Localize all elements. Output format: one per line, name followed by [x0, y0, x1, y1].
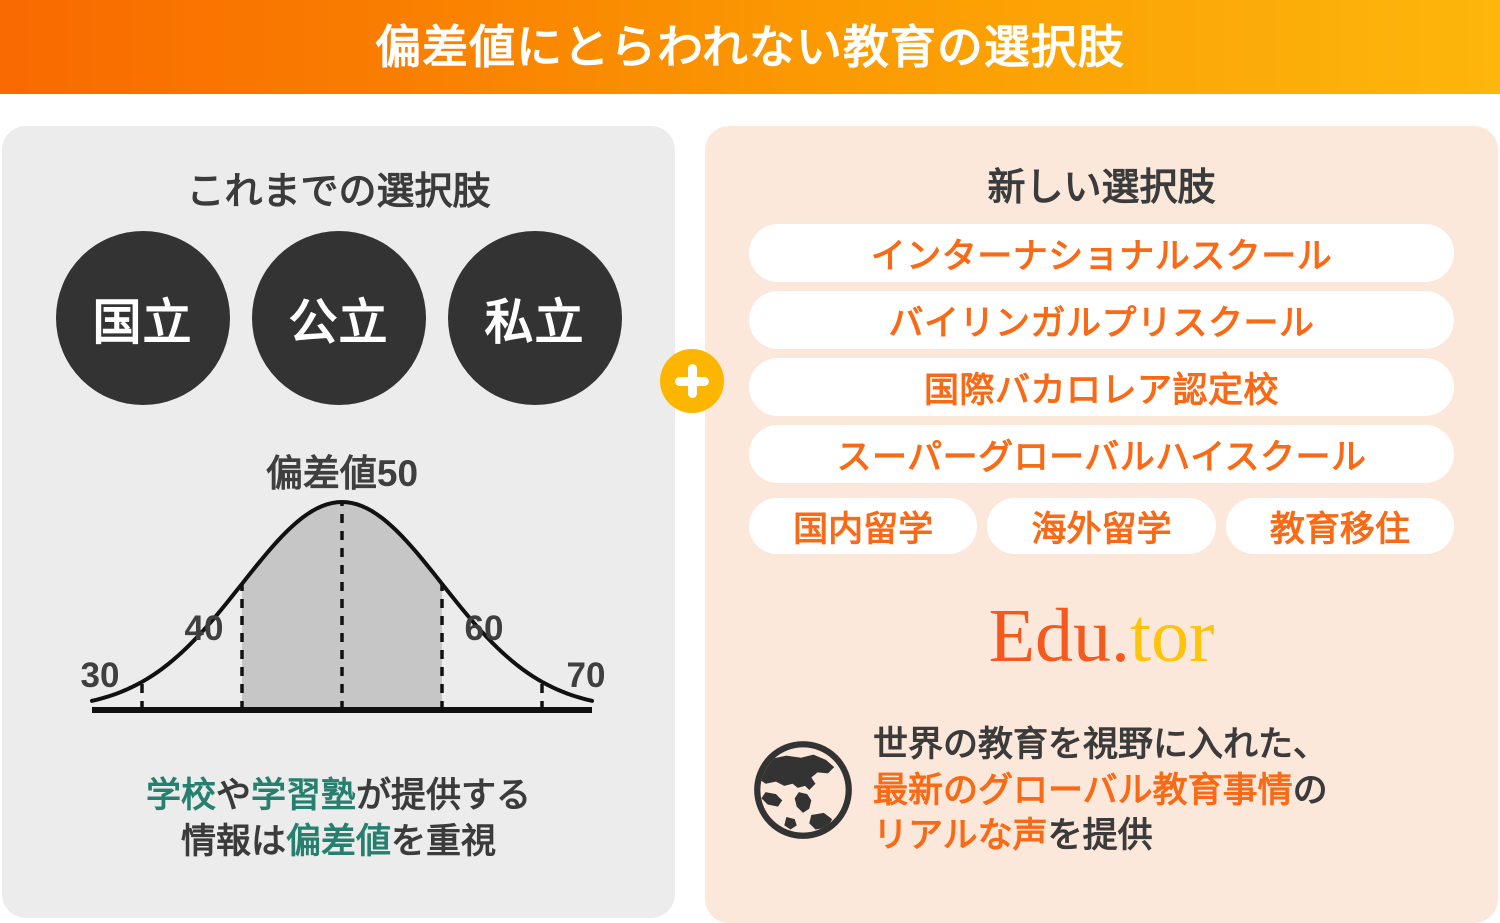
- caption-text-info: 情報は: [181, 822, 286, 861]
- tagline-line-3-tail: を提供: [1048, 816, 1153, 855]
- plus-icon: [660, 349, 724, 413]
- tagline-highlight-global-education: 最新のグローバル教育事情: [873, 771, 1293, 810]
- bell-curve-tick-label-70: 70: [567, 656, 606, 695]
- brand-logo-secondary: tor: [1130, 594, 1214, 678]
- pill-overseas-study[interactable]: 海外留学: [987, 498, 1215, 554]
- caption-text-emphasis: を重視: [391, 822, 496, 861]
- circle-public: 公立: [252, 231, 426, 405]
- circle-public-label: 公立: [288, 283, 388, 354]
- tagline-highlight-real-voices: リアルな声: [873, 816, 1048, 855]
- brand-logo-primary: Edu.: [989, 594, 1130, 678]
- plus-icon-vertical-bar: [688, 364, 697, 398]
- bell-curve-svg: 偏差値50 30 40 60 70: [52, 444, 632, 744]
- circle-national: 国立: [56, 231, 230, 405]
- deviation-score-bell-curve: 偏差値50 30 40 60 70: [52, 444, 632, 744]
- new-option-pill-list: インターナショナルスクール バイリンガルプリスクール 国際バカロレア認定校 スー…: [749, 224, 1454, 483]
- left-panel-caption: 学校や学習塾が提供する 情報は偏差値を重視: [2, 773, 675, 865]
- left-panel-title: これまでの選択肢: [2, 160, 675, 215]
- tagline-line-3: リアルな声を提供: [873, 813, 1328, 859]
- school-type-circle-group: 国立 公立 私立: [2, 231, 675, 405]
- right-panel-new-options: 新しい選択肢 インターナショナルスクール バイリンガルプリスクール 国際バカロレ…: [705, 126, 1498, 923]
- tagline-line-2: 最新のグローバル教育事情の: [873, 768, 1328, 814]
- caption-highlight-school: 学校: [146, 776, 216, 815]
- circle-private-label: 私立: [484, 283, 584, 354]
- pill-overseas-study-label: 海外留学: [1031, 501, 1171, 552]
- pill-international-school-label: インターナショナルスクール: [871, 228, 1333, 279]
- left-panel-existing-options: これまでの選択肢 国立 公立 私立 偏差値50 30 40 60 70: [2, 126, 675, 918]
- caption-text-ya: や: [216, 776, 251, 815]
- brand-logo: Edu.tor: [705, 598, 1498, 674]
- pill-ib-school-label: 国際バカロレア認定校: [924, 362, 1279, 413]
- study-option-pill-row: 国内留学 海外留学 教育移住: [749, 498, 1454, 554]
- caption-highlight-cram-school: 学習塾: [251, 776, 356, 815]
- pill-super-global-highschool-label: スーパーグローバルハイスクール: [836, 429, 1366, 480]
- pill-domestic-study[interactable]: 国内留学: [749, 498, 977, 554]
- caption-highlight-deviation: 偏差値: [286, 822, 391, 861]
- pill-domestic-study-label: 国内留学: [793, 501, 933, 552]
- brand-tagline-text: 世界の教育を視野に入れた、 最新のグローバル教育事情の リアルな声を提供: [873, 722, 1328, 859]
- circle-national-label: 国立: [92, 283, 192, 354]
- circle-private: 私立: [448, 231, 622, 405]
- bell-curve-tick-label-40: 40: [185, 609, 224, 648]
- page-header: 偏差値にとらわれない教育の選択肢: [0, 0, 1500, 94]
- pill-ib-school[interactable]: 国際バカロレア認定校: [749, 358, 1454, 416]
- tagline-line-2-tail: の: [1293, 771, 1328, 810]
- tagline-line-1: 世界の教育を視野に入れた、: [873, 722, 1328, 768]
- caption-text-provide: が提供する: [356, 776, 531, 815]
- pill-super-global-highschool[interactable]: スーパーグローバルハイスクール: [749, 425, 1454, 483]
- bell-curve-tick-label-30: 30: [81, 656, 120, 695]
- bell-curve-tick-label-60: 60: [465, 609, 504, 648]
- pill-education-migration[interactable]: 教育移住: [1226, 498, 1454, 554]
- brand-tagline-block: 世界の教育を視野に入れた、 最新のグローバル教育事情の リアルな声を提供: [751, 722, 1471, 859]
- pill-international-school[interactable]: インターナショナルスクール: [749, 224, 1454, 282]
- pill-bilingual-preschool[interactable]: バイリンガルプリスクール: [749, 291, 1454, 349]
- right-panel-title: 新しい選択肢: [705, 156, 1498, 211]
- bell-curve-peak-label: 偏差値50: [266, 453, 418, 494]
- globe-icon: [751, 738, 855, 842]
- pill-bilingual-preschool-label: バイリンガルプリスクール: [888, 295, 1314, 346]
- left-caption-line-2: 情報は偏差値を重視: [2, 819, 675, 865]
- page-title: 偏差値にとらわれない教育の選択肢: [375, 24, 1125, 70]
- pill-education-migration-label: 教育移住: [1270, 501, 1410, 552]
- left-caption-line-1: 学校や学習塾が提供する: [2, 773, 675, 819]
